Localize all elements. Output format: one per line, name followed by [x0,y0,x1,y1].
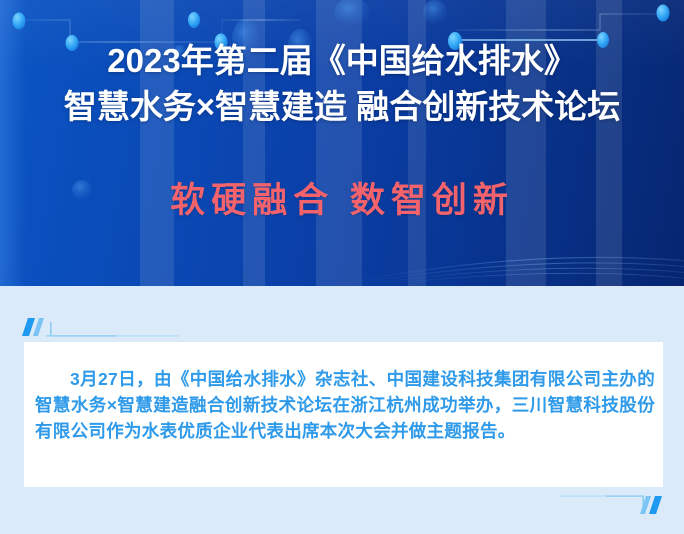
page-root: 2023年第二届《中国给水排水》 智慧水务×智慧建造 融合创新技术论坛 软硬融合… [0,0,684,534]
banner-title-line-2: 智慧水务×智慧建造 融合创新技术论坛 [0,84,684,130]
article-content-area: 3月27日，由《中国给水排水》杂志社、中国建设科技集团有限公司主办的智慧水务×智… [0,286,684,534]
banner-title-line-1: 2023年第二届《中国给水排水》 [0,38,684,84]
article-body-text: 3月27日，由《中国给水排水》杂志社、中国建设科技集团有限公司主办的智慧水务×智… [35,366,655,444]
quote-open-icon [20,314,200,340]
arc-lines-icon [330,257,684,286]
hero-banner: 2023年第二届《中国给水排水》 智慧水务×智慧建造 融合创新技术论坛 软硬融合… [0,0,684,286]
quote-close-icon [560,492,670,518]
banner-slogan: 软硬融合 数智创新 [0,178,684,224]
banner-title-group: 2023年第二届《中国给水排水》 智慧水务×智慧建造 融合创新技术论坛 [0,38,684,130]
